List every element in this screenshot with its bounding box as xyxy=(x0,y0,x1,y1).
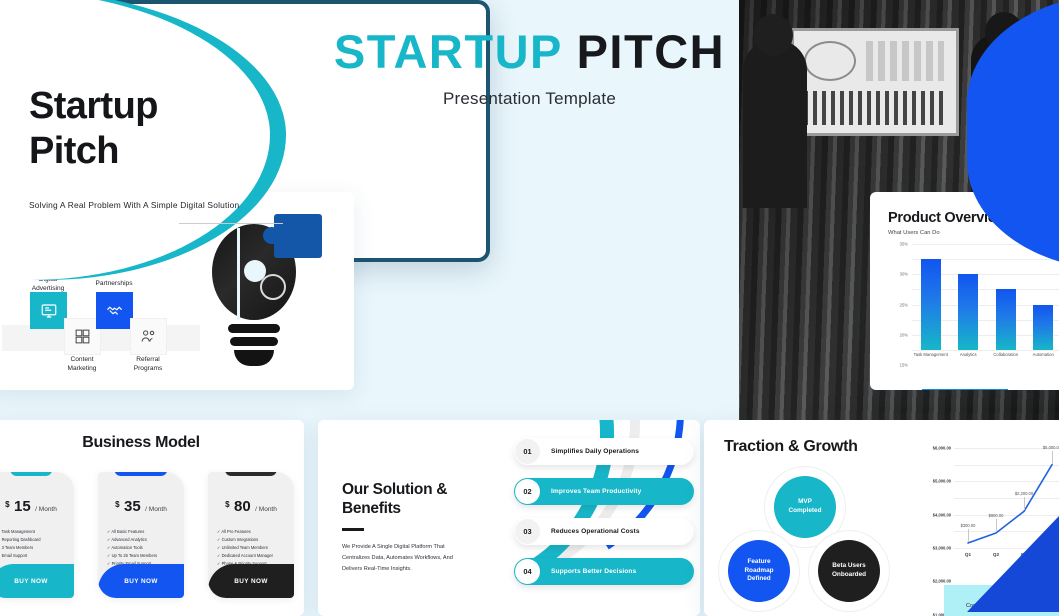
pricing-card-basic[interactable]: Basic $ 15 / Month ✓ Task Management✓ Re… xyxy=(0,472,74,598)
benefit-item-04[interactable]: 04 Supports Better Decisions xyxy=(514,558,694,585)
bar xyxy=(958,274,978,350)
benefit-item-02[interactable]: 02 Improves Team Productivity xyxy=(514,478,694,505)
plan-price: $ 80 / Month xyxy=(208,498,294,516)
hero-heading-line2: Pitch xyxy=(29,129,239,174)
product-bar-chart: 0%5%10%15%20%25%30%35% Task ManagementAn… xyxy=(912,244,1059,350)
y-axis-tick: $6,000.00 xyxy=(933,446,951,451)
buy-now-button[interactable]: BUY NOW xyxy=(208,564,294,598)
hero-divider xyxy=(179,223,283,224)
data-point-label: $5,000.00 xyxy=(1043,445,1059,450)
bar xyxy=(996,289,1016,350)
label-stem xyxy=(1052,451,1053,464)
benefit-number: 02 xyxy=(515,479,540,504)
plan-badge: Basic xyxy=(10,472,52,476)
milestone-roadmap[interactable]: FeatureRoadmapDefined xyxy=(728,540,790,602)
benefit-label: Improves Team Productivity xyxy=(551,488,641,495)
data-point-label: $300.00 xyxy=(961,523,976,528)
title-main: PITCH xyxy=(577,25,726,78)
benefit-label: Reduces Operational Costs xyxy=(551,528,640,535)
y-axis-tick: $4,000.00 xyxy=(933,512,951,517)
buy-now-button[interactable]: BUY NOW xyxy=(0,564,74,598)
gridline: 0% xyxy=(912,350,1059,351)
plan-features: ✓ All Basic Features✓ Advanced Analytics… xyxy=(107,528,157,568)
solution-title: Our Solution & Benefits xyxy=(342,480,447,518)
benefit-label: Simplifies Daily Operations xyxy=(551,448,639,455)
bar xyxy=(1033,305,1053,350)
plan-price: $ 35 / Month xyxy=(98,498,184,516)
monitor-icon[interactable] xyxy=(30,292,67,329)
x-axis-tick: Q1 xyxy=(965,552,971,557)
milestone-label: Beta UsersOnboarded xyxy=(832,562,866,580)
lightbulb-puzzle-illustration xyxy=(198,220,310,370)
gtm-label-content-marketing: ContentMarketing xyxy=(47,356,117,374)
data-point-label: $900.00 xyxy=(989,513,1004,518)
y-axis-tick: 15% xyxy=(900,363,908,368)
slide-our-solution[interactable]: Our Solution & Benefits We Provide A Sin… xyxy=(318,420,700,616)
hero-text-block: Startup Pitch Solving A Real Problem Wit… xyxy=(29,84,239,210)
plan-features: ✓ All Pro Features✓ Custom Integrations✓… xyxy=(217,528,273,568)
gtm-label-referral-programs: ReferralPrograms xyxy=(113,356,183,374)
data-point-label: $2,200.00 xyxy=(1015,491,1033,496)
x-axis-tick: Collaboration xyxy=(993,352,1018,357)
label-stem xyxy=(996,519,997,532)
benefit-number: 01 xyxy=(515,439,540,464)
y-axis-tick: $2,000.00 xyxy=(933,579,951,584)
bar xyxy=(921,259,941,350)
plan-badge: Business xyxy=(114,472,167,476)
y-axis-tick: $5,000.00 xyxy=(933,479,951,484)
milestone-beta[interactable]: Beta UsersOnboarded xyxy=(818,540,880,602)
benefit-number: 03 xyxy=(515,519,540,544)
y-axis-tick: $3,000.00 xyxy=(933,546,951,551)
benefit-item-01[interactable]: 01 Simplifies Daily Operations xyxy=(514,438,694,465)
y-axis-tick: 20% xyxy=(900,332,908,337)
background-glow xyxy=(300,95,410,205)
y-axis-tick: 25% xyxy=(900,302,908,307)
benefit-number: 04 xyxy=(515,559,540,584)
handshake-icon[interactable] xyxy=(96,292,133,329)
milestone-label: FeatureRoadmapDefined xyxy=(744,558,773,585)
pricing-card-business[interactable]: Business $ 35 / Month ✓ All Basic Featur… xyxy=(98,472,184,598)
product-footer-bar xyxy=(922,389,1008,390)
buy-now-button[interactable]: BUY NOW xyxy=(98,564,184,598)
traction-title: Traction & Growth xyxy=(724,438,858,456)
x-axis-tick: Analytics xyxy=(960,352,977,357)
business-model-title: Business Model xyxy=(0,434,304,452)
benefit-label: Supports Better Decisions xyxy=(551,568,636,575)
label-stem xyxy=(968,529,969,542)
x-axis-tick: Q2 xyxy=(993,552,999,557)
plan-features: ✓ Task Management✓ Reporting Dashboard✓ … xyxy=(0,528,40,560)
hero-subheading: Solving A Real Problem With A Simple Dig… xyxy=(29,200,239,210)
product-subtitle: What Users Can Do xyxy=(888,230,940,236)
title-accent: STARTUP xyxy=(334,25,562,78)
x-axis-tick: Automation xyxy=(1033,352,1054,357)
y-axis-tick: 30% xyxy=(900,272,908,277)
gtm-label-partnerships: Partnerships xyxy=(79,280,149,289)
benefit-item-03[interactable]: 03 Reduces Operational Costs xyxy=(514,518,694,545)
poster-stage: STARTUP PITCH Presentation Template Go-T… xyxy=(0,0,1059,608)
solution-divider xyxy=(342,528,364,531)
y-axis-tick: 35% xyxy=(900,242,908,247)
label-stem xyxy=(1024,497,1025,510)
pricing-card-premium[interactable]: Premium $ 80 / Month ✓ All Pro Features✓… xyxy=(208,472,294,598)
plan-price: $ 15 / Month xyxy=(0,498,74,516)
x-axis-tick: Task Management xyxy=(914,352,948,357)
plan-badge: Premium xyxy=(225,472,277,476)
slide-business-model[interactable]: Business Model Basic $ 15 / Month ✓ Task… xyxy=(0,420,304,616)
milestone-mvp[interactable]: MVPCompleted xyxy=(774,476,836,538)
referral-icon[interactable] xyxy=(130,318,167,355)
hero-heading-line1: Startup xyxy=(29,84,239,129)
milestone-label: MVPCompleted xyxy=(788,498,821,516)
solution-paragraph: We Provide A Single Digital Platform Tha… xyxy=(342,542,474,576)
